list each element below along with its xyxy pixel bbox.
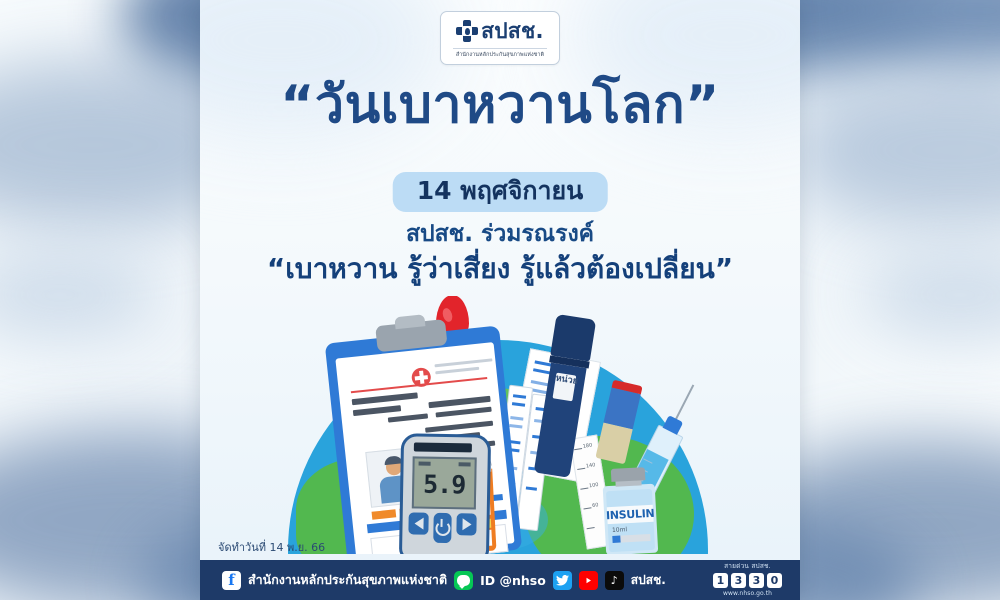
youtube-icon[interactable] xyxy=(579,571,598,590)
date-badge: 14 พฤศจิกายน xyxy=(393,172,608,212)
screenshot-root: สปสช. สำนักงานหลักประกันสุขภาพแห่งชาติ “… xyxy=(0,0,1000,600)
meter-screen: 5.9 xyxy=(412,456,477,509)
meter-power-button[interactable] xyxy=(433,513,452,543)
facebook-icon[interactable]: f xyxy=(222,571,241,590)
logo-wordmark: สปสช. xyxy=(481,21,544,42)
tiktok-icon[interactable]: ♪ xyxy=(605,571,624,590)
hotline-digit: 3 xyxy=(749,573,764,588)
insulin-vial-name: INSULIN xyxy=(604,507,657,523)
nhso-logo: สปสช. สำนักงานหลักประกันสุขภาพแห่งชาติ xyxy=(440,11,560,65)
social-label: สปสช. xyxy=(631,571,666,590)
insulin-vial-volume: 10ml xyxy=(612,526,628,534)
strip-slot xyxy=(414,442,472,452)
campaign-line: สปสช. ร่วมรณรงค์ xyxy=(200,221,800,249)
insulin-vial: INSULIN 10ml xyxy=(602,467,658,554)
twitter-icon[interactable] xyxy=(553,571,572,590)
hotline-digits: 1 3 3 0 xyxy=(713,573,782,588)
insulin-pen-label: หน่วย xyxy=(555,373,577,388)
illustration: 180 140 100 60 xyxy=(200,296,800,554)
line-label: ID @nhso xyxy=(480,573,546,588)
page-title: “วันเบาหวานโลก” xyxy=(200,78,800,133)
logo-subtitle: สำนักงานหลักประกันสุขภาพแห่งชาติ xyxy=(453,48,547,59)
campaign-slogan: “เบาหวาน รู้ว่าเสี่ยง รู้แล้วต้องเปลี่ยน… xyxy=(200,252,800,286)
hotline-digit: 3 xyxy=(731,573,746,588)
hotline-digit: 0 xyxy=(767,573,782,588)
hotline-block: สายด่วน สปสช. 1 3 3 0 www.nhso.go.th xyxy=(713,561,782,597)
hotline-caption: สายด่วน สปสช. xyxy=(713,561,782,571)
creation-date-credit: จัดทำวันที่ 14 พ.ย. 66 xyxy=(218,538,325,556)
medical-cross-icon xyxy=(456,20,478,42)
hotline-digit: 1 xyxy=(713,573,728,588)
meter-right-button[interactable] xyxy=(456,513,476,535)
poster-card: สปสช. สำนักงานหลักประกันสุขภาพแห่งชาติ “… xyxy=(200,0,800,600)
footer-bar: f สำนักงานหลักประกันสุขภาพแห่งชาติ ID @n… xyxy=(200,560,800,600)
website-url: www.nhso.go.th xyxy=(713,590,782,597)
meter-left-button[interactable] xyxy=(408,512,428,534)
line-icon[interactable] xyxy=(454,571,473,590)
glucose-reading: 5.9 xyxy=(414,469,474,499)
glucose-meter[interactable]: 5.9 xyxy=(399,433,491,554)
facebook-label: สำนักงานหลักประกันสุขภาพแห่งชาติ xyxy=(248,570,447,590)
